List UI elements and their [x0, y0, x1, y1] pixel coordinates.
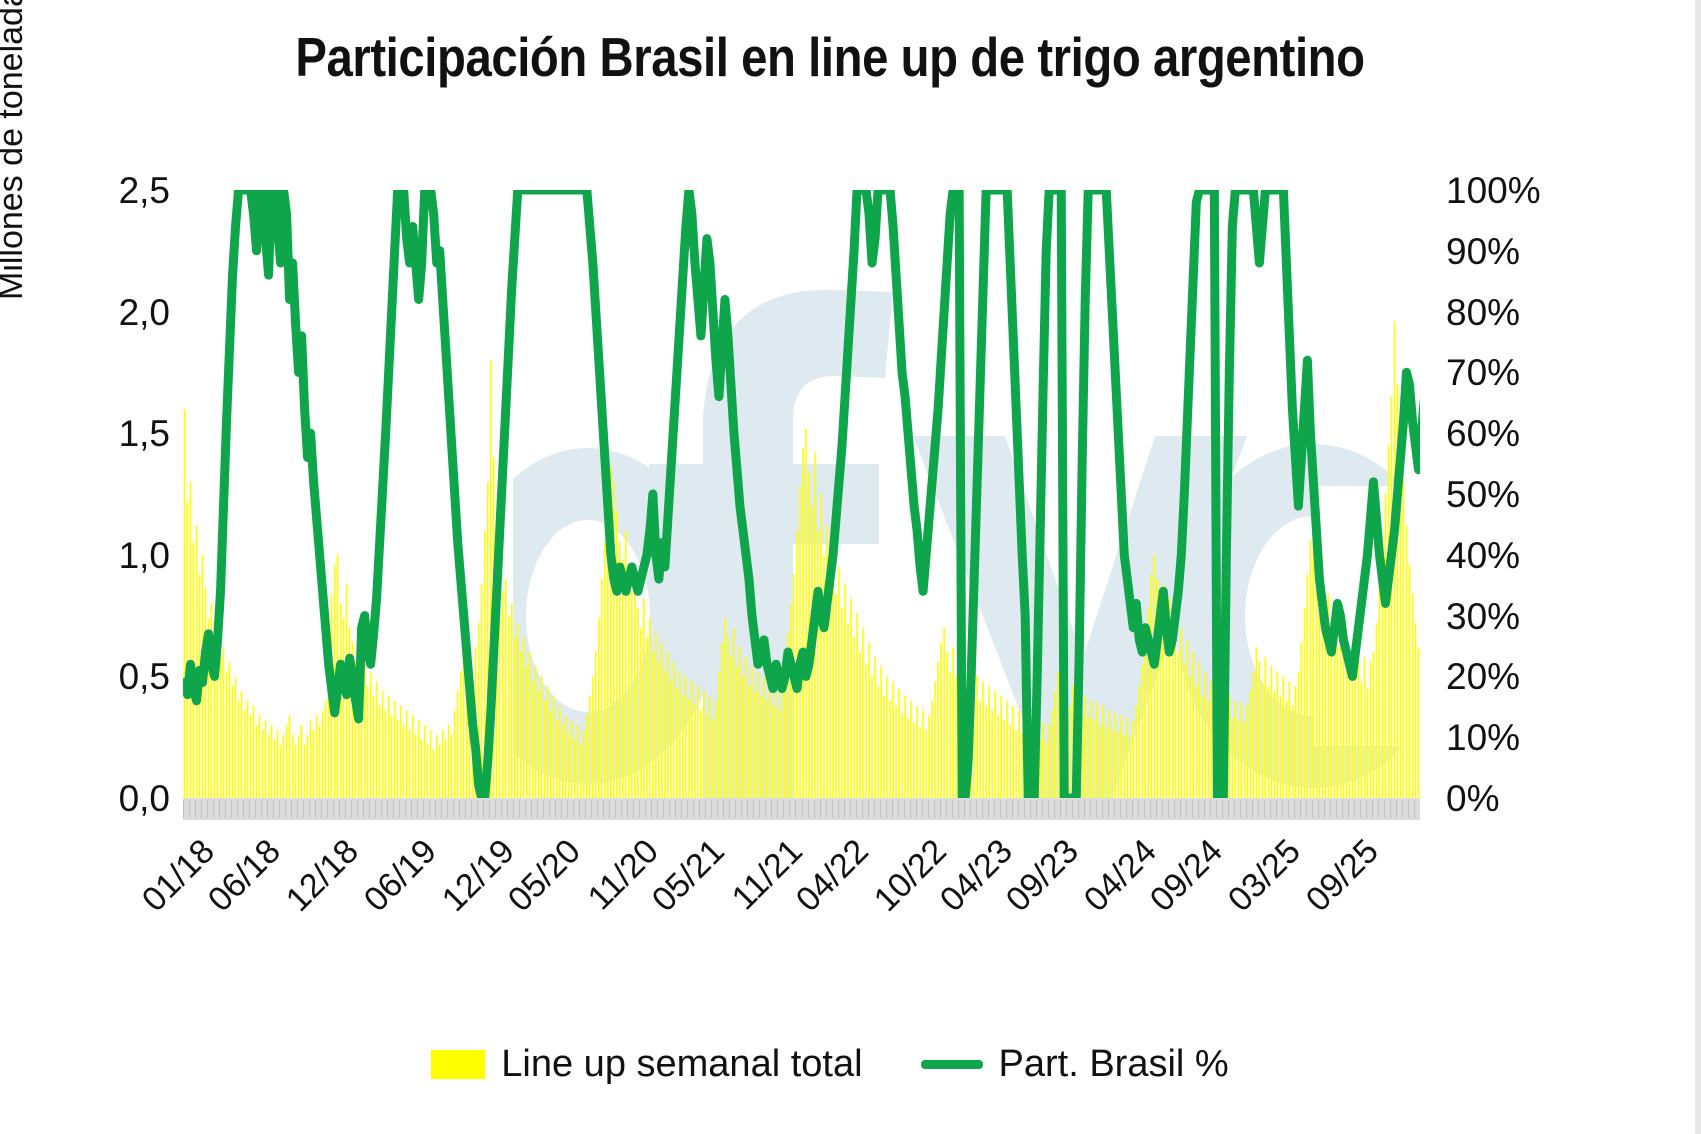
x-axis-tick: [471, 800, 472, 818]
x-axis-tick: [585, 800, 586, 818]
x-axis-tick: [417, 800, 418, 818]
x-axis-tick: [657, 800, 658, 818]
x-axis-tick: [693, 800, 694, 818]
x-axis-tick: [1234, 800, 1235, 818]
chart-title: Participación Brasil en line up de trigo…: [116, 26, 1544, 88]
x-axis-tick: [231, 800, 232, 818]
x-axis-tick: [615, 800, 616, 818]
x-axis-tick: [940, 800, 941, 818]
x-axis-tick: [483, 800, 484, 818]
left-y-tick-label: 2,0: [70, 294, 170, 331]
x-axis-tick: [1126, 800, 1127, 818]
x-axis-tick: [952, 800, 953, 818]
x-axis-tick: [1042, 800, 1043, 818]
x-axis-tick: [357, 800, 358, 818]
x-axis-tick: [1186, 800, 1187, 818]
x-axis-tick: [958, 800, 959, 818]
x-axis-tick: [1384, 800, 1385, 818]
x-axis-tick: [393, 800, 394, 818]
x-axis-tick: [495, 800, 496, 818]
x-axis-labels: 01/1806/1812/1806/1912/1905/2011/2005/21…: [0, 826, 1701, 966]
x-axis-tick: [1258, 800, 1259, 818]
x-axis-tick: [874, 800, 875, 818]
x-axis-tick: [579, 800, 580, 818]
x-axis-tick: [537, 800, 538, 818]
x-axis-tick: [1390, 800, 1391, 818]
x-axis-tick: [814, 800, 815, 818]
x-axis-tick: [303, 800, 304, 818]
x-axis-tick: [1396, 800, 1397, 818]
x-axis-tick: [1288, 800, 1289, 818]
x-axis-tick: [771, 800, 772, 818]
x-axis-tick: [687, 800, 688, 818]
x-axis-tick: [321, 800, 322, 818]
x-axis-tick: [567, 800, 568, 818]
x-axis-tick: [892, 800, 893, 818]
x-axis-tick: [243, 800, 244, 818]
x-axis-tick: [1066, 800, 1067, 818]
x-axis-tick: [531, 800, 532, 818]
x-axis-tick: [435, 800, 436, 818]
x-axis-tick: [1408, 800, 1409, 818]
x-axis-tick: [423, 800, 424, 818]
x-axis-tick: [201, 800, 202, 818]
x-axis-tick: [886, 800, 887, 818]
plot-area: [183, 190, 1420, 798]
x-axis-tick: [1294, 800, 1295, 818]
x-axis-tick: [555, 800, 556, 818]
x-axis-tick: [783, 800, 784, 818]
x-axis-tick: [1138, 800, 1139, 818]
right-y-tick-label: 20%: [1446, 658, 1606, 695]
x-axis-tick: [441, 800, 442, 818]
right-y-tick-label: 80%: [1446, 294, 1606, 331]
x-axis-tick: [1000, 800, 1001, 818]
x-axis-tick: [1132, 800, 1133, 818]
x-axis-tick: [838, 800, 839, 818]
x-axis-tick: [976, 800, 977, 818]
x-axis-tick: [922, 800, 923, 818]
x-axis-tick: [1084, 800, 1085, 818]
right-y-tick-label: 40%: [1446, 537, 1606, 574]
x-axis-tick: [753, 800, 754, 818]
x-axis-tick: [375, 800, 376, 818]
x-axis-tick: [946, 800, 947, 818]
x-axis-tick: [297, 800, 298, 818]
x-axis-tick: [387, 800, 388, 818]
x-axis-tick: [934, 800, 935, 818]
x-axis-tick: [1372, 800, 1373, 818]
x-axis-tick: [1300, 800, 1301, 818]
x-axis-tick: [1072, 800, 1073, 818]
x-axis-tick: [994, 800, 995, 818]
x-axis-tick: [195, 800, 196, 818]
left-y-axis-title: Millones de toneladas: [0, 0, 31, 300]
x-axis-tick: [1192, 800, 1193, 818]
x-axis-tick: [1090, 800, 1091, 818]
x-axis-tick: [1216, 800, 1217, 818]
right-y-tick-label: 30%: [1446, 598, 1606, 635]
x-axis-tick: [964, 800, 965, 818]
x-axis-tick: [789, 800, 790, 818]
chart-page: Participación Brasil en line up de trigo…: [0, 0, 1701, 1134]
x-axis-tick: [802, 800, 803, 818]
x-axis-band: [183, 798, 1420, 820]
x-axis-tick: [862, 800, 863, 818]
x-axis-tick: [1348, 800, 1349, 818]
x-axis-tick: [1342, 800, 1343, 818]
x-axis-tick: [285, 800, 286, 818]
x-axis-tick: [255, 800, 256, 818]
x-axis-tick: [591, 800, 592, 818]
x-axis-tick: [1180, 800, 1181, 818]
x-axis-tick: [291, 800, 292, 818]
x-axis-tick: [1276, 800, 1277, 818]
x-axis-tick: [1078, 800, 1079, 818]
legend-label-line-up: Line up semanal total: [501, 1044, 862, 1084]
x-axis-tick: [603, 800, 604, 818]
x-axis-tick: [1168, 800, 1169, 818]
x-axis-tick: [723, 800, 724, 818]
x-axis-tick: [795, 800, 796, 818]
x-axis-tick: [345, 800, 346, 818]
x-axis-tick: [675, 800, 676, 818]
x-axis-tick: [543, 800, 544, 818]
x-axis-tick: [549, 800, 550, 818]
x-axis-tick: [699, 800, 700, 818]
x-axis-tick: [1336, 800, 1337, 818]
x-axis-tick: [519, 800, 520, 818]
x-axis-tick: [273, 800, 274, 818]
right-y-tick-label: 100%: [1446, 172, 1606, 209]
x-axis-tick: [1198, 800, 1199, 818]
x-axis-tick: [832, 800, 833, 818]
left-y-axis: 0,00,51,01,52,02,5: [40, 190, 170, 798]
x-axis-tick: [465, 800, 466, 818]
x-axis-tick: [1246, 800, 1247, 818]
x-axis-tick: [880, 800, 881, 818]
line-swatch-icon: [921, 1060, 983, 1069]
x-axis-tick: [1252, 800, 1253, 818]
x-axis-tick: [459, 800, 460, 818]
x-axis-tick: [333, 800, 334, 818]
x-axis-tick: [261, 800, 262, 818]
x-axis-tick: [219, 800, 220, 818]
x-axis-tick: [1414, 800, 1415, 818]
x-axis-tick: [573, 800, 574, 818]
x-axis-tick: [759, 800, 760, 818]
right-y-tick-label: 50%: [1446, 476, 1606, 513]
x-axis-tick: [982, 800, 983, 818]
x-axis-tick: [1012, 800, 1013, 818]
x-axis-tick: [327, 800, 328, 818]
x-axis-tick: [1222, 800, 1223, 818]
x-axis-tick: [183, 800, 184, 818]
x-axis-tick: [705, 800, 706, 818]
x-axis-tick: [1054, 800, 1055, 818]
x-axis-tick: [717, 800, 718, 818]
x-axis-tick: [928, 800, 929, 818]
x-axis-tick: [429, 800, 430, 818]
x-axis-tick: [627, 800, 628, 818]
x-axis-tick: [1354, 800, 1355, 818]
x-axis-tick: [988, 800, 989, 818]
x-axis-tick: [663, 800, 664, 818]
x-axis-tick: [808, 800, 809, 818]
x-axis-tick: [1162, 800, 1163, 818]
x-axis-tick: [477, 800, 478, 818]
x-axis-tick: [249, 800, 250, 818]
right-y-tick-label: 10%: [1446, 719, 1606, 756]
x-axis-tick: [525, 800, 526, 818]
x-axis-tick: [1006, 800, 1007, 818]
x-axis-tick: [747, 800, 748, 818]
x-axis-tick: [315, 800, 316, 818]
x-axis-tick: [1402, 800, 1403, 818]
x-axis-tick: [1108, 800, 1109, 818]
x-axis-tick: [1360, 800, 1361, 818]
x-axis-tick: [735, 800, 736, 818]
x-axis-tick: [339, 800, 340, 818]
x-axis-tick: [1228, 800, 1229, 818]
x-axis-tick: [1030, 800, 1031, 818]
x-axis-tick: [970, 800, 971, 818]
x-axis-tick: [1306, 800, 1307, 818]
x-axis-tick: [826, 800, 827, 818]
x-axis-tick: [844, 800, 845, 818]
x-axis-tick: [1282, 800, 1283, 818]
x-axis-tick: [729, 800, 730, 818]
x-axis-tick: [1018, 800, 1019, 818]
x-axis-tick: [1378, 800, 1379, 818]
x-axis-tick: [1156, 800, 1157, 818]
x-axis-tick: [501, 800, 502, 818]
x-axis-tick: [1318, 800, 1319, 818]
x-axis-tick: [639, 800, 640, 818]
x-axis-tick: [1264, 800, 1265, 818]
right-y-tick-label: 90%: [1446, 233, 1606, 270]
x-axis-tick: [1330, 800, 1331, 818]
x-axis-tick: [910, 800, 911, 818]
left-y-tick-label: 0,0: [70, 780, 170, 817]
x-axis-tick: [381, 800, 382, 818]
x-axis-tick: [1324, 800, 1325, 818]
x-axis-tick: [1174, 800, 1175, 818]
x-axis-tick: [561, 800, 562, 818]
x-axis-tick: [1150, 800, 1151, 818]
x-axis-tick: [411, 800, 412, 818]
x-axis-tick: [1048, 800, 1049, 818]
chart-legend: Line up semanal total Part. Brasil %: [0, 1044, 1660, 1084]
x-axis-tick: [1270, 800, 1271, 818]
x-axis-tick: [1024, 800, 1025, 818]
x-axis-tick: [489, 800, 490, 818]
x-axis-tick: [741, 800, 742, 818]
x-axis-tick: [1060, 800, 1061, 818]
x-axis-tick: [904, 800, 905, 818]
x-axis-tick: [850, 800, 851, 818]
x-axis-tick: [279, 800, 280, 818]
x-axis-tick: [1210, 800, 1211, 818]
legend-item-part-brasil[interactable]: Part. Brasil %: [921, 1044, 1229, 1084]
x-axis-tick: [1366, 800, 1367, 818]
x-axis-tick: [1144, 800, 1145, 818]
x-axis-tick: [309, 800, 310, 818]
x-axis-tick: [651, 800, 652, 818]
x-axis-tick: [777, 800, 778, 818]
left-y-tick-label: 0,5: [70, 658, 170, 695]
left-y-tick-label: 2,5: [70, 172, 170, 209]
line-series-part-brasil: [183, 190, 1420, 798]
right-y-tick-label: 70%: [1446, 354, 1606, 391]
x-axis-tick: [237, 800, 238, 818]
x-axis-tick: [1096, 800, 1097, 818]
x-axis-tick: [507, 800, 508, 818]
x-axis-tick: [453, 800, 454, 818]
x-axis-tick: [207, 800, 208, 818]
x-axis-tick: [711, 800, 712, 818]
x-axis-tick: [820, 800, 821, 818]
x-axis-tick: [1102, 800, 1103, 818]
right-y-axis: 0%10%20%30%40%50%60%70%80%90%100%: [1446, 190, 1616, 798]
x-axis-tick: [765, 800, 766, 818]
x-axis-tick: [597, 800, 598, 818]
x-axis-tick: [1312, 800, 1313, 818]
x-axis-tick: [633, 800, 634, 818]
x-axis-tick: [645, 800, 646, 818]
x-axis-tick: [363, 800, 364, 818]
x-axis-tick: [856, 800, 857, 818]
x-axis-tick: [1240, 800, 1241, 818]
x-axis-tick: [621, 800, 622, 818]
x-axis-tick: [609, 800, 610, 818]
x-axis-tick: [1120, 800, 1121, 818]
x-axis-tick: [267, 800, 268, 818]
left-y-tick-label: 1,5: [70, 415, 170, 452]
x-axis-tick: [868, 800, 869, 818]
right-y-tick-label: 60%: [1446, 415, 1606, 452]
x-axis-tick: [1204, 800, 1205, 818]
legend-item-line-up-semanal-total[interactable]: Line up semanal total: [431, 1044, 862, 1084]
x-axis-tick: [189, 800, 190, 818]
legend-label-part-brasil: Part. Brasil %: [999, 1044, 1229, 1084]
x-axis-tick: [898, 800, 899, 818]
x-axis-tick: [513, 800, 514, 818]
x-axis-tick: [447, 800, 448, 818]
x-axis-tick: [351, 800, 352, 818]
x-axis-tick: [916, 800, 917, 818]
x-axis-tick: [399, 800, 400, 818]
x-axis-tick: [1114, 800, 1115, 818]
x-axis-tick: [225, 800, 226, 818]
x-axis-tick: [405, 800, 406, 818]
x-axis-tick: [1036, 800, 1037, 818]
x-axis-tick: [213, 800, 214, 818]
left-y-tick-label: 1,0: [70, 537, 170, 574]
x-axis-tick: [681, 800, 682, 818]
bar-swatch-icon: [431, 1050, 485, 1079]
right-y-tick-label: 0%: [1446, 780, 1606, 817]
x-axis-tick: [369, 800, 370, 818]
x-axis-tick: [669, 800, 670, 818]
